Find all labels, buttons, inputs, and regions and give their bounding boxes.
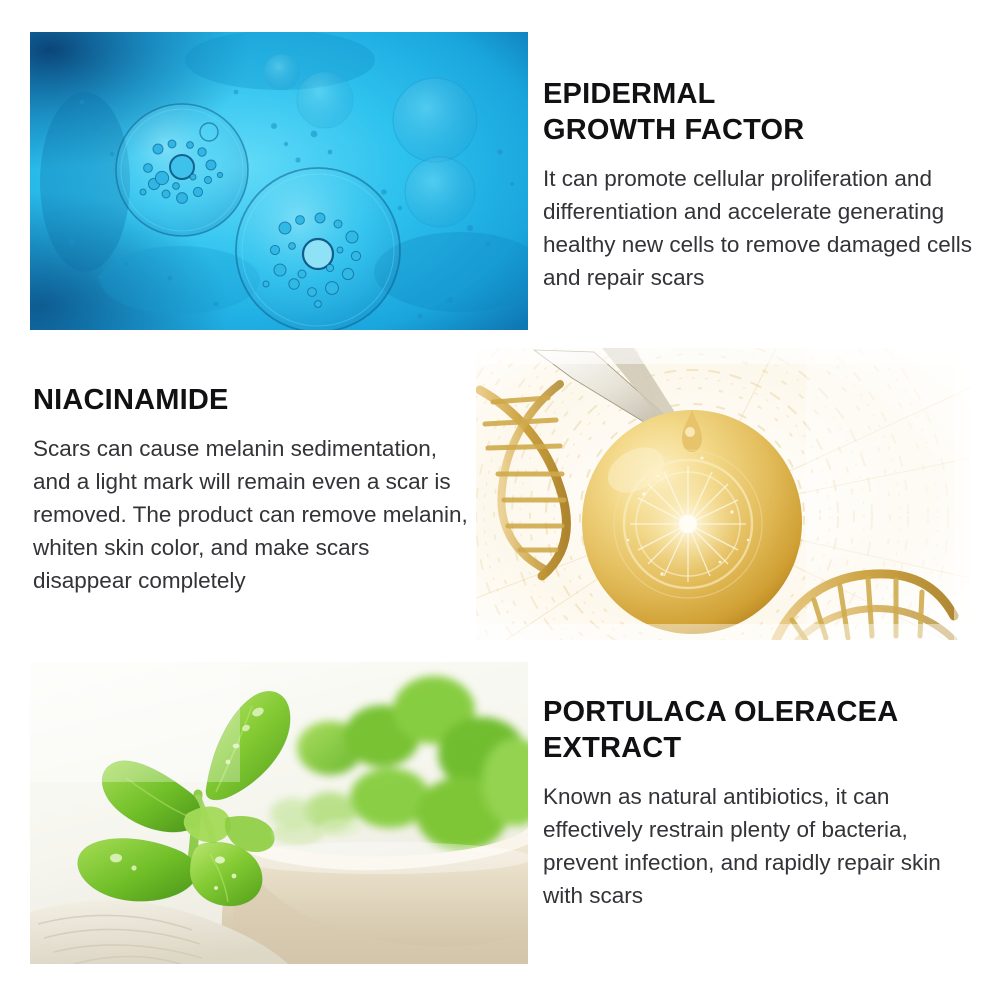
egf-heading: EPIDERMAL GROWTH FACTOR	[543, 76, 983, 148]
portulaca-text-block: PORTULACA OLERACEA EXTRACT Known as natu…	[543, 694, 973, 912]
gold-serum-drop-photo	[476, 348, 970, 640]
ingredient-infographic-page: EPIDERMAL GROWTH FACTOR It can promote c…	[0, 0, 1000, 1000]
blue-bubbles-photo	[30, 32, 528, 330]
niacinamide-text-block: NIACINAMIDE Scars can cause melanin sedi…	[33, 382, 473, 597]
portulaca-body-text: Known as natural antibiotics, it can eff…	[543, 780, 973, 912]
egf-text-block: EPIDERMAL GROWTH FACTOR It can promote c…	[543, 76, 983, 294]
green-sprouts-bowl-photo	[30, 662, 528, 964]
niacinamide-heading: NIACINAMIDE	[33, 382, 473, 418]
portulaca-heading: PORTULACA OLERACEA EXTRACT	[543, 694, 973, 766]
niacinamide-body-text: Scars can cause melanin sedimentation, a…	[33, 432, 473, 597]
egf-body-text: It can promote cellular proliferation an…	[543, 162, 983, 294]
